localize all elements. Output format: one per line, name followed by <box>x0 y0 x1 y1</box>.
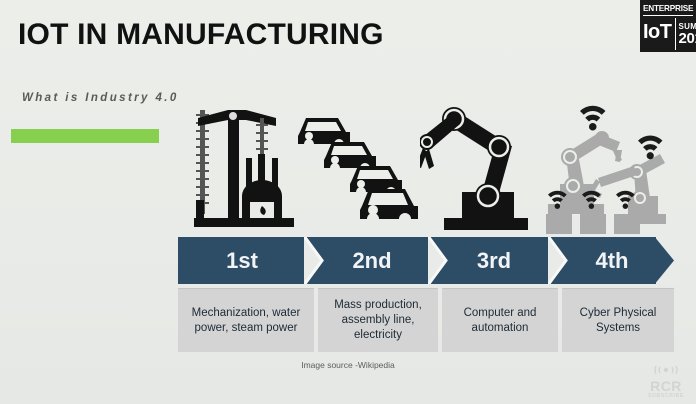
enterprise-iot-summit-logo: ENTERPRISE IoT SUMMIT 2017 <box>640 0 696 52</box>
stage-label-4: 4th <box>596 248 629 274</box>
page-title: IOT IN MANUFACTURING <box>18 18 384 51</box>
stage-description-4: Cyber Physical Systems <box>562 288 674 352</box>
logo-bottom-row: IoT SUMMIT 2017 <box>643 16 693 50</box>
image-source-note: Image source -Wikipedia <box>0 360 696 370</box>
logo-iot-text: IoT <box>643 18 676 50</box>
stage-chevron-1[interactable]: 1st <box>178 237 314 284</box>
stage-label-1: 1st <box>226 248 258 274</box>
logo-year-text: 2017 <box>679 31 696 46</box>
cars-assembly-icon <box>294 96 420 236</box>
industrial-revolution-illustrations <box>176 96 676 236</box>
stage-chevron-3[interactable]: 3rd <box>438 237 558 284</box>
steam-engine-icon <box>184 96 300 236</box>
watermark-brand: RCR <box>650 379 682 393</box>
stage-description-1: Mechanization, water power, steam power <box>178 288 314 352</box>
watermark-subscribe: SUBSCRIBE <box>648 393 684 400</box>
stage-descriptions: Mechanization, water power, steam power … <box>178 288 674 352</box>
stage-chevron-4[interactable]: 4th <box>558 237 674 284</box>
stage-label-2: 2nd <box>352 248 391 274</box>
stage-chevron-2[interactable]: 2nd <box>314 237 438 284</box>
stage-label-3: 3rd <box>477 248 511 274</box>
logo-enterprise-text: ENTERPRISE <box>643 3 693 16</box>
subtitle: What is Industry 4.0 <box>22 92 179 104</box>
slide-canvas: IOT IN MANUFACTURING What is Industry 4.… <box>0 0 696 404</box>
wifi-signal-icon <box>653 363 679 379</box>
green-accent-bar <box>11 129 159 143</box>
robot-arm-icon <box>420 96 546 236</box>
stage-arrow-band: 1st 2nd 3rd 4th <box>178 237 674 284</box>
logo-right-stack: SUMMIT 2017 <box>676 18 696 50</box>
connected-robots-wifi-icon <box>542 96 674 236</box>
stage-description-2: Mass production, assembly line, electric… <box>318 288 438 352</box>
stage-description-3: Computer and automation <box>442 288 558 352</box>
rcr-watermark: RCR SUBSCRIBE <box>640 354 692 400</box>
